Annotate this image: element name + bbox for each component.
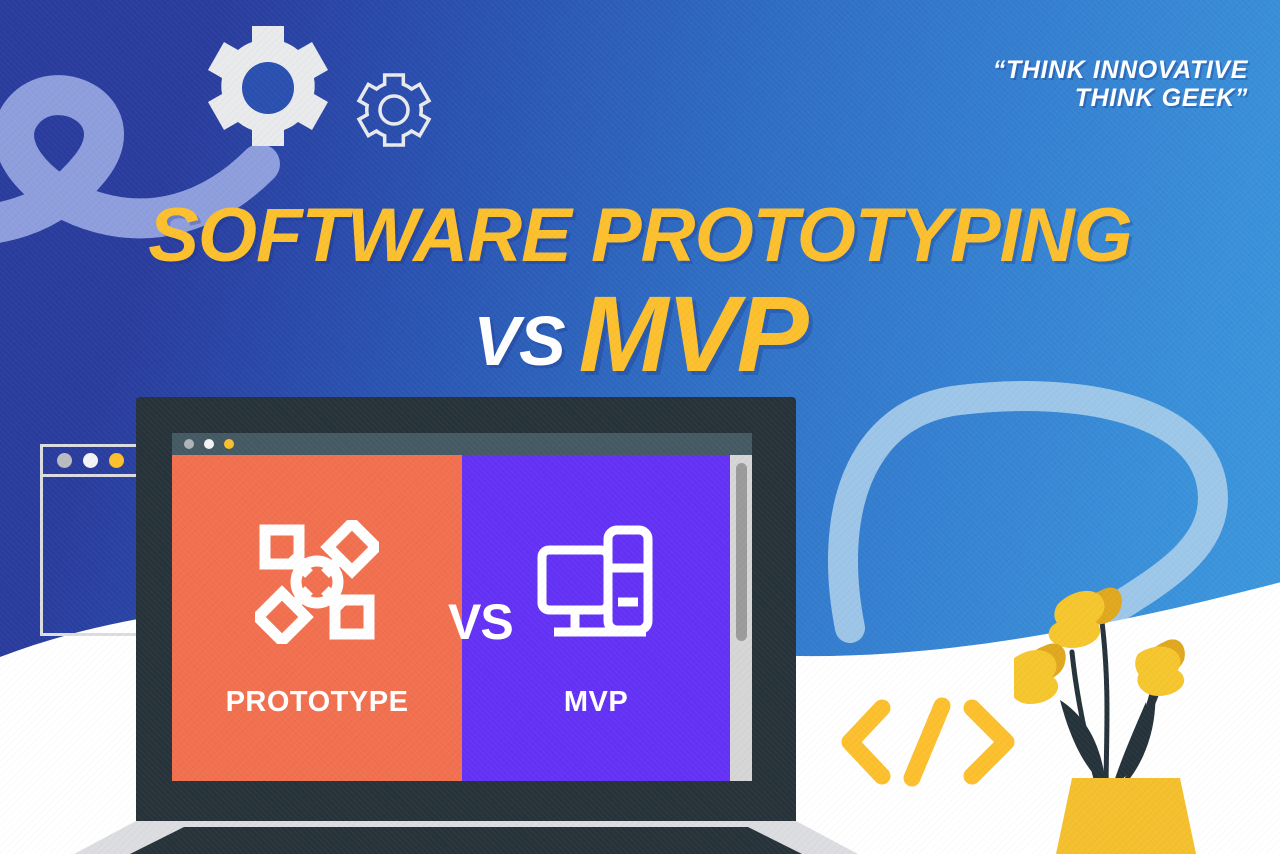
flower-pot <box>1056 778 1196 854</box>
browser-scrollbar[interactable] <box>730 455 752 781</box>
browser-titlebar[interactable] <box>172 433 752 455</box>
tagline: “THINK INNOVATIVE THINK GEEK” <box>993 56 1248 112</box>
traffic-light-gray[interactable] <box>184 439 194 449</box>
code-brackets-icon <box>838 692 1018 792</box>
headline-vs: VS <box>473 306 564 376</box>
tagline-line-2: THINK GEEK” <box>993 84 1248 112</box>
pane-label-mvp: MVP <box>564 686 628 719</box>
headline-line-2: VS MVP <box>0 280 1280 388</box>
pane-prototype[interactable]: PROTOTYPE <box>172 455 462 781</box>
pane-label-prototype: PROTOTYPE <box>226 686 409 719</box>
laptop-base <box>74 821 858 854</box>
network-nodes-icon <box>255 518 379 646</box>
headline-line-1: SOFTWARE PROTOTYPING <box>0 198 1280 274</box>
browser-window: PROTOTYPE <box>172 433 752 781</box>
window-dot-yellow <box>109 453 124 468</box>
comparison-panes: PROTOTYPE <box>172 455 752 781</box>
flower-right <box>1135 639 1185 696</box>
window-dot-white <box>83 453 98 468</box>
laptop-illustration: PROTOTYPE <box>136 397 796 854</box>
flower-left <box>1014 643 1066 704</box>
page-title: SOFTWARE PROTOTYPING VS MVP <box>0 198 1280 388</box>
tagline-line-1: “THINK INNOVATIVE <box>993 56 1248 84</box>
scrollbar-thumb[interactable] <box>736 463 747 641</box>
vs-divider-label: VS <box>448 593 513 651</box>
potted-plant <box>1014 556 1264 854</box>
traffic-light-yellow[interactable] <box>224 439 234 449</box>
headline-mvp: MVP <box>579 280 807 388</box>
gear-icon-large <box>196 24 340 152</box>
desktop-computer-icon <box>534 518 658 646</box>
traffic-light-white[interactable] <box>204 439 214 449</box>
poster-canvas: “THINK INNOVATIVE THINK GEEK” SOFTWARE P… <box>0 0 1280 854</box>
window-dot-gray <box>57 453 72 468</box>
flower-top <box>1049 588 1122 648</box>
gear-icon-small <box>352 72 436 148</box>
